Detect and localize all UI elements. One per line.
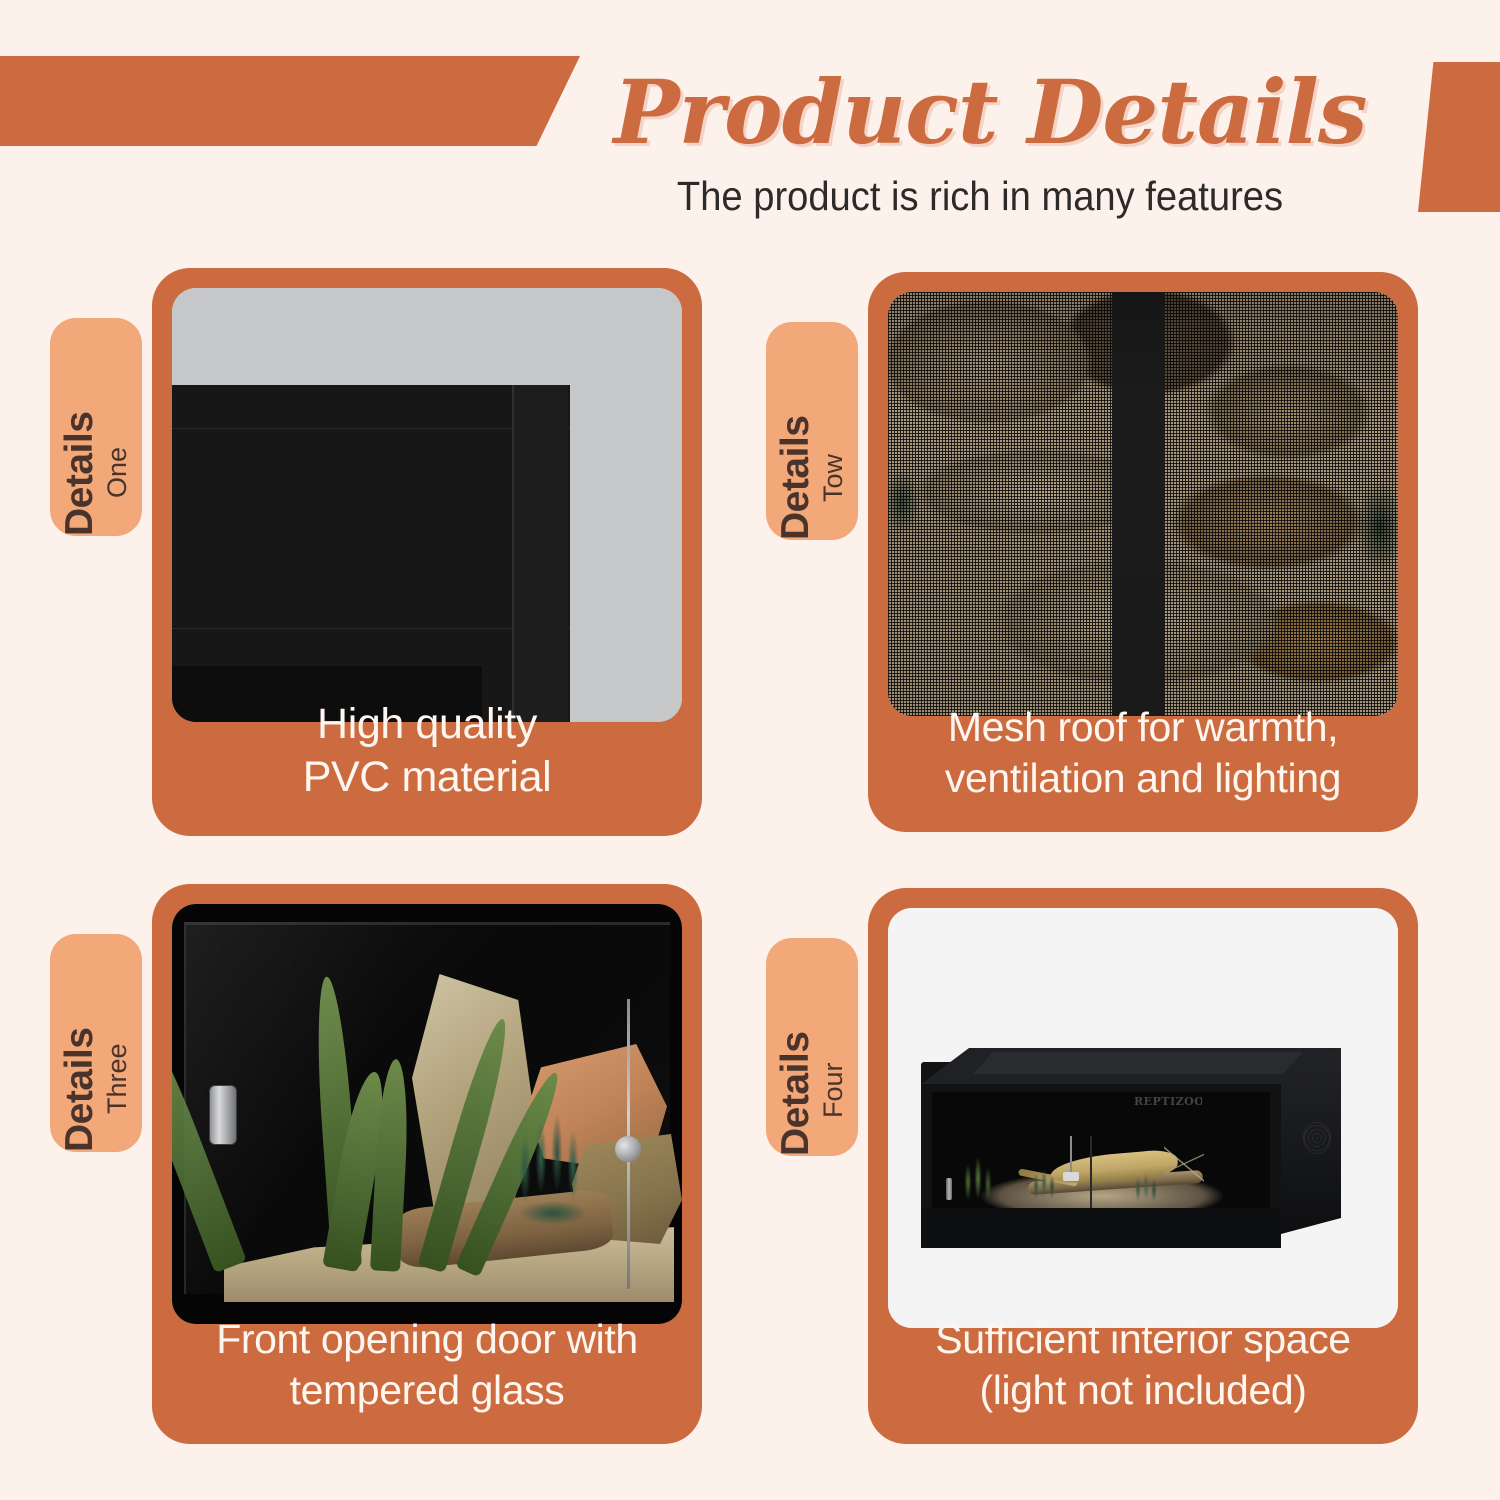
- details-tab-three-inner: Details Three: [50, 934, 142, 1152]
- tank-door-handle: [946, 1178, 952, 1200]
- details-tab-two-label: Details: [776, 416, 816, 540]
- detail-card-one: High qualityPVC material: [152, 268, 702, 836]
- haworthia-succulent: [507, 1109, 599, 1229]
- door-handle: [210, 1086, 236, 1144]
- pvc-panel-vertical-edge: [512, 385, 568, 722]
- page-title: Product Details: [540, 58, 1440, 168]
- tank-fern-plant: [1130, 1170, 1164, 1204]
- detail-card-two: Mesh roof for warmth,ventilation and lig…: [868, 272, 1418, 832]
- lamp-clip: [1063, 1172, 1079, 1181]
- detail-card-two-photo: [888, 292, 1398, 716]
- tank-bottom-frame: [921, 1208, 1281, 1248]
- details-tab-one: Details One: [50, 318, 142, 536]
- details-tab-two: Details Tow: [766, 322, 858, 540]
- lamp-cord: [1070, 1136, 1072, 1176]
- detail-card-one-photo: [172, 288, 682, 722]
- details-tab-three-number: Three: [102, 1043, 132, 1114]
- detail-card-one-caption: High qualityPVC material: [152, 698, 702, 818]
- brand-logo: REPTIZOO: [1134, 1094, 1202, 1110]
- page-subtitle: The product is rich in many features: [571, 172, 1389, 220]
- details-tab-four-inner: Details Four: [766, 938, 858, 1156]
- tank-succulent-plant: [1028, 1166, 1062, 1202]
- detail-card-four: REPTIZOO Sufficient interior space(light…: [868, 888, 1418, 1444]
- details-tab-three-text: Details Three: [60, 934, 132, 1152]
- detail-card-three: Front opening door withtempered glass: [152, 884, 702, 1444]
- detail-card-three-photo: [172, 904, 682, 1324]
- details-tab-one-inner: Details One: [50, 318, 142, 536]
- details-tab-two-inner: Details Tow: [766, 322, 858, 540]
- tank-glass-front: [932, 1092, 1270, 1208]
- page-header: Product Details The product is rich in m…: [0, 0, 1500, 250]
- tank-glass-divider: [1090, 1136, 1092, 1208]
- details-tab-two-number: Tow: [818, 454, 848, 502]
- tank-aloe-plant: [958, 1154, 1000, 1202]
- header-banner-left-shape: [0, 56, 580, 146]
- side-vent-icon: [1303, 1122, 1331, 1154]
- detail-card-two-caption: Mesh roof for warmth,ventilation and lig…: [868, 702, 1418, 818]
- details-tab-four-text: Details Four: [776, 938, 848, 1156]
- details-tab-four-label: Details: [776, 1032, 816, 1156]
- details-tab-one-label: Details: [60, 412, 100, 536]
- thermometer-dial: [615, 1136, 641, 1162]
- details-tab-one-text: Details One: [60, 318, 132, 536]
- tank-twig: [1164, 1142, 1204, 1182]
- details-tab-two-text: Details Tow: [776, 322, 848, 540]
- details-tab-four: Details Four: [766, 938, 858, 1156]
- pvc-panel-seam-top: [172, 428, 570, 429]
- detail-card-four-caption: Sufficient interior space(light not incl…: [868, 1314, 1418, 1430]
- details-tab-four-number: Four: [818, 1062, 848, 1118]
- details-tab-three-label: Details: [60, 1028, 100, 1152]
- mesh-roof-shading: [888, 292, 1398, 716]
- details-tab-one-number: One: [102, 447, 132, 498]
- tank-top-frame: [921, 1048, 1341, 1084]
- pvc-panel-seam-bottom: [172, 628, 570, 629]
- detail-card-four-photo: REPTIZOO: [888, 908, 1398, 1328]
- details-tab-three: Details Three: [50, 934, 142, 1152]
- tank-top-mesh-vent: [973, 1052, 1303, 1074]
- terrarium-tank: REPTIZOO: [921, 1048, 1341, 1248]
- detail-card-three-caption: Front opening door withtempered glass: [152, 1314, 702, 1430]
